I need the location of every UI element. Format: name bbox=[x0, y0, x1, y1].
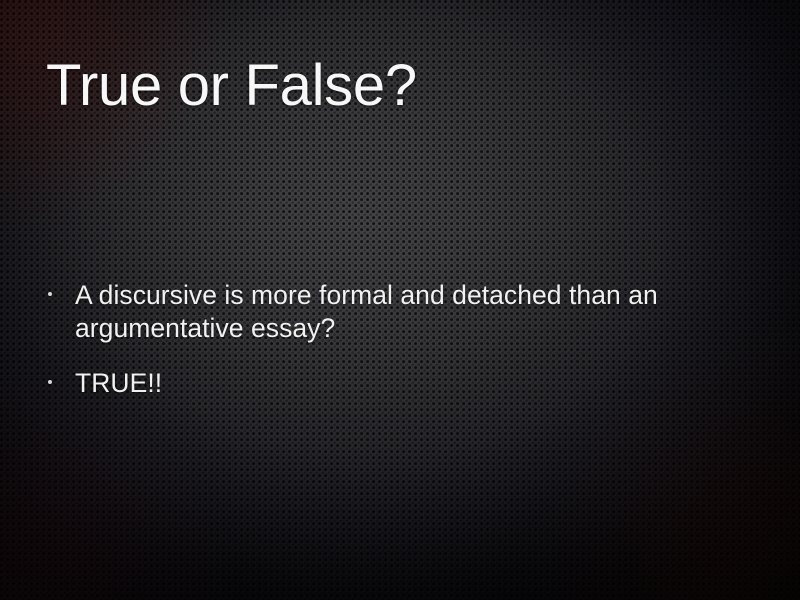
slide-bullet-list: A discursive is more formal and detached… bbox=[0, 279, 800, 400]
list-item: TRUE!! bbox=[0, 367, 800, 400]
list-item-label: TRUE!! bbox=[75, 367, 700, 400]
list-item-label: A discursive is more formal and detached… bbox=[75, 279, 681, 345]
slide-title: True or False? bbox=[46, 57, 417, 115]
slide-content: True or False? A discursive is more form… bbox=[0, 0, 800, 600]
presentation-slide: True or False? A discursive is more form… bbox=[0, 0, 800, 600]
list-item: A discursive is more formal and detached… bbox=[0, 279, 800, 345]
dot-bullet-icon bbox=[48, 380, 52, 384]
dot-bullet-icon bbox=[48, 292, 52, 296]
